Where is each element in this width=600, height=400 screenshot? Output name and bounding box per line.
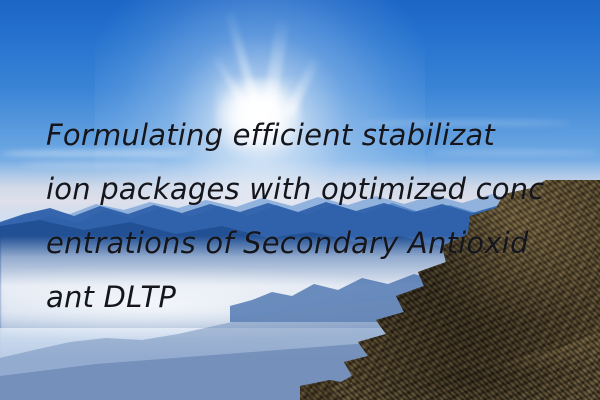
cirrus-cloud — [20, 162, 160, 167]
cirrus-cloud — [360, 120, 570, 126]
rock-outcrop — [300, 180, 600, 400]
cirrus-cloud — [430, 150, 600, 155]
cirrus-cloud — [0, 150, 190, 157]
sun-core — [215, 78, 301, 148]
image-canvas: Formulating efficient stabilizat ion pac… — [0, 0, 600, 400]
